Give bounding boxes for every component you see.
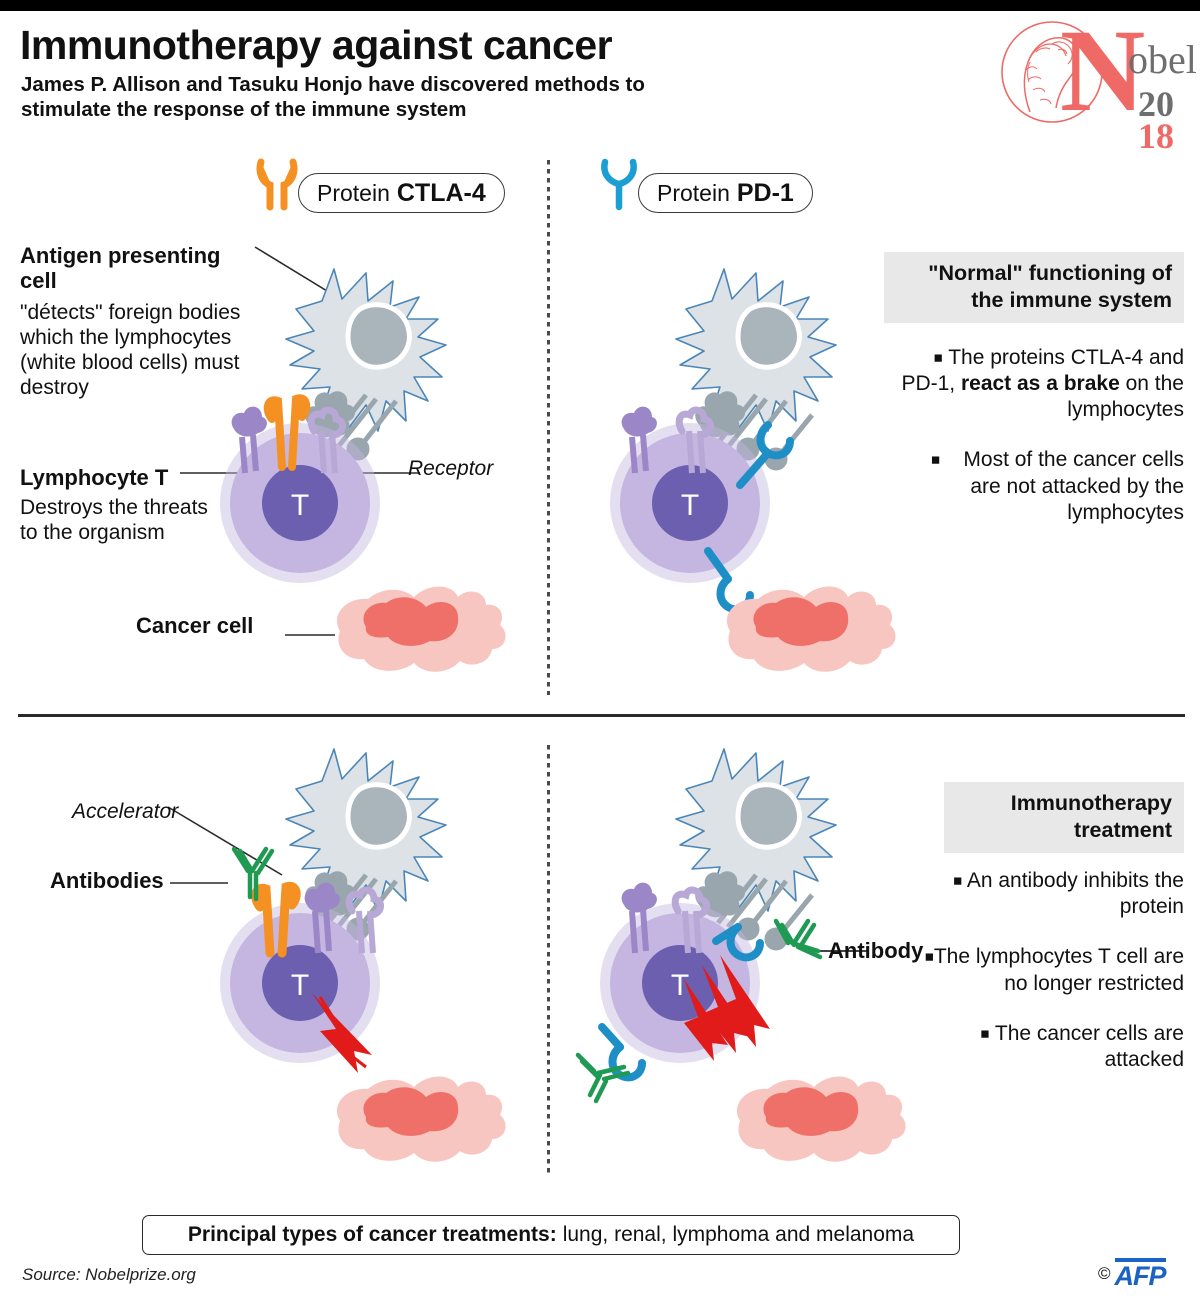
source-credit: Source: Nobelprize.org xyxy=(22,1265,196,1285)
label-accelerator: Accelerator xyxy=(72,800,178,824)
bullet-item: ■The lymphocytes T cell are no longer re… xyxy=(900,944,1184,996)
vertical-dotted-divider-top xyxy=(547,160,550,695)
page-title: Immunotherapy against cancer xyxy=(20,22,612,69)
panel-bullets-normal-functioning: ■ The proteins CTLA-4 and PD-1, react as… xyxy=(900,345,1184,550)
desc-lymphocyte-t: Destroys the threats to the organism xyxy=(20,495,220,545)
t-cell-letter: T xyxy=(291,489,309,522)
label-cancer-cell: Cancer cell xyxy=(136,613,266,638)
legend-pd1-prefix: Protein xyxy=(657,180,730,207)
diagram-pd1-normal: T xyxy=(580,235,930,685)
afp-credit: © AFP xyxy=(1098,1258,1166,1290)
infographic-page: Immunotherapy against cancer James P. Al… xyxy=(0,0,1200,1303)
bullet-text-pre: The lymphocytes T cell are no longer res… xyxy=(934,945,1184,994)
footer-treatments-label: Principal types of cancer treatments: xyxy=(188,1223,557,1247)
diagram-ctla4-treatment: T xyxy=(190,755,540,1175)
cancer-cell xyxy=(337,587,506,672)
bullet-square: ■ xyxy=(925,949,934,966)
diagram-pd1-treatment: T xyxy=(580,755,930,1175)
top-black-bar xyxy=(0,0,1200,11)
footer-treatments-box: Principal types of cancer treatments: lu… xyxy=(142,1215,960,1255)
bullet-item: ■ The cancer cells are attacked xyxy=(900,1021,1184,1073)
legend-pd1-name: PD-1 xyxy=(737,179,794,208)
label-lymphocyte-t: Lymphocyte T xyxy=(20,465,168,490)
bullet-square: ■ xyxy=(980,1025,989,1042)
label-antigen-presenting-cell: Antigen presenting cell xyxy=(20,243,245,293)
label-receptor: Receptor xyxy=(408,457,493,481)
bullet-text-pre: The cancer cells are attacked xyxy=(995,1022,1184,1071)
bullet-text-pre: An antibody inhibits the protein xyxy=(967,869,1184,918)
copyright-symbol: © xyxy=(1098,1264,1111,1284)
antigen-presenting-cell xyxy=(676,269,836,431)
t-cell-letter: T xyxy=(681,489,699,522)
protein-ctla4-icon xyxy=(255,158,299,210)
nobel-logo-word: obel xyxy=(1128,40,1197,80)
cancer-cell xyxy=(737,1077,906,1162)
legend-chip-pd1[interactable]: Protein PD-1 xyxy=(638,173,813,213)
bullet-text-pre: Most of the cancer cells are not attacke… xyxy=(963,448,1184,523)
bullet-square: ■ xyxy=(953,872,962,889)
legend-chip-ctla4[interactable]: Protein CTLA-4 xyxy=(298,173,505,213)
bullet-item: ■ An antibody inhibits the protein xyxy=(900,868,1184,920)
horizontal-divider xyxy=(18,714,1185,717)
t-cell-letter: T xyxy=(291,969,309,1002)
bullet-square: ■ xyxy=(934,349,943,366)
footer-treatments-value: lung, renal, lymphoma and melanoma xyxy=(563,1223,914,1247)
legend-ctla4-prefix: Protein xyxy=(317,180,390,207)
legend-ctla4-name: CTLA-4 xyxy=(397,179,486,208)
bullet-square: ■ xyxy=(931,452,940,469)
panel-heading-immunotherapy-treatment: Immunotherapy treatment xyxy=(944,782,1184,853)
bullet-item: ■ The proteins CTLA-4 and PD-1, react as… xyxy=(900,345,1184,423)
bullet-text-strong: react as a brake xyxy=(961,372,1120,395)
desc-antigen-presenting-cell: "détects" foreign bodies which the lymph… xyxy=(20,300,250,400)
page-subtitle: James P. Allison and Tasuku Honjo have d… xyxy=(21,72,721,122)
protein-pd1-icon xyxy=(600,158,638,210)
panel-bullets-immunotherapy-treatment: ■ An antibody inhibits the protein ■The … xyxy=(900,868,1184,1097)
cancer-cell xyxy=(337,1077,506,1162)
vertical-dotted-divider-bottom xyxy=(547,745,550,1175)
label-antibodies: Antibodies xyxy=(50,868,164,894)
cancer-cell xyxy=(727,587,896,672)
bullet-item: ■ Most of the cancer cells are not attac… xyxy=(900,447,1184,525)
nobel-logo-year-bottom: 18 xyxy=(1138,118,1174,154)
afp-logo: AFP xyxy=(1115,1258,1166,1290)
panel-heading-normal-functioning: "Normal" functioning of the immune syste… xyxy=(884,252,1184,323)
nobel-prize-logo: N obel 20 18 xyxy=(1000,14,1192,146)
antigen-presenting-cell xyxy=(676,749,836,911)
